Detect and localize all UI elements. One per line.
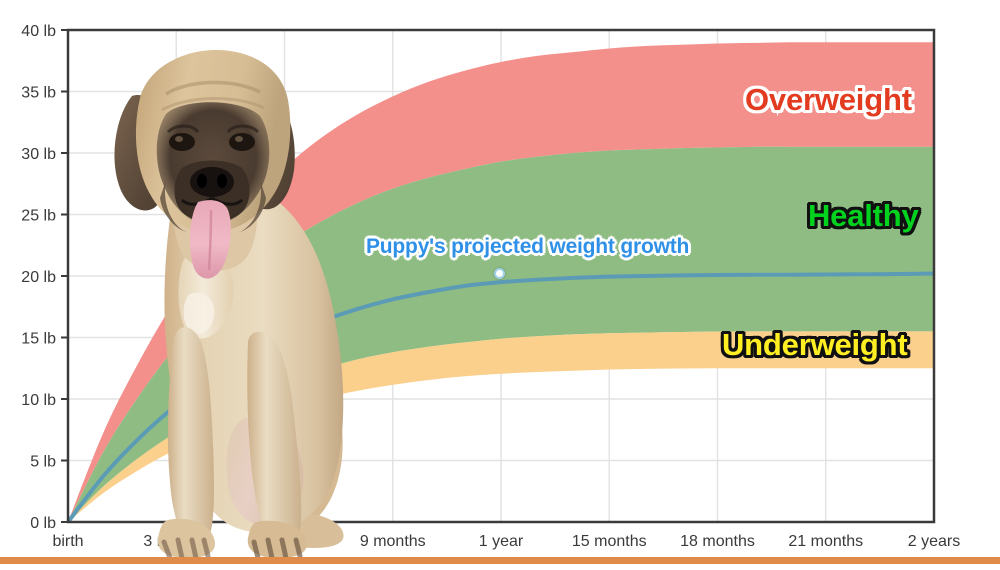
growth-chart-page: 0 lb5 lb10 lb15 lb20 lb25 lb30 lb35 lb40…	[0, 0, 1000, 570]
y-tick-label: 0 lb	[30, 515, 56, 532]
healthy-label: Healthy	[808, 198, 919, 234]
x-tick-label: 1 year	[479, 533, 524, 550]
y-axis: 0 lb5 lb10 lb15 lb20 lb25 lb30 lb35 lb40…	[21, 23, 68, 532]
overweight-label: Overweight	[745, 82, 912, 118]
x-axis: birth3 months6 months9 months1 year15 mo…	[52, 533, 960, 550]
underweight-label: Underweight	[722, 327, 908, 363]
y-tick-label: 20 lb	[21, 269, 56, 286]
x-tick-label: 3 months	[143, 533, 209, 550]
x-tick-label: birth	[52, 533, 83, 550]
bottom-accent-bar	[0, 557, 1000, 564]
x-tick-label: 21 months	[788, 533, 863, 550]
y-tick-label: 40 lb	[21, 23, 56, 40]
projection-label: Puppy's projected weight growth	[366, 235, 689, 259]
x-tick-label: 6 months	[252, 533, 318, 550]
y-tick-label: 15 lb	[21, 331, 56, 348]
y-tick-label: 25 lb	[21, 208, 56, 225]
y-tick-label: 35 lb	[21, 85, 56, 102]
y-tick-label: 5 lb	[30, 454, 56, 471]
x-tick-label: 15 months	[572, 533, 647, 550]
y-tick-label: 10 lb	[21, 392, 56, 409]
y-tick-label: 30 lb	[21, 146, 56, 163]
x-tick-label: 9 months	[360, 533, 426, 550]
projection-point-marker[interactable]	[494, 268, 505, 279]
x-tick-label: 2 years	[908, 533, 960, 550]
x-tick-label: 18 months	[680, 533, 755, 550]
